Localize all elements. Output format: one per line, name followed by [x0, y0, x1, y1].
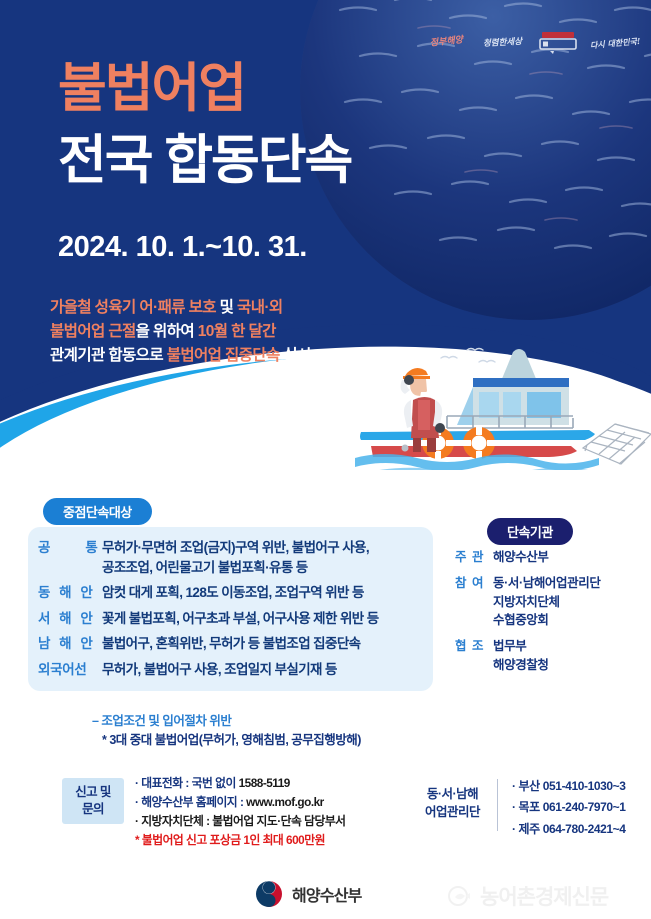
ministry-footer-logo: 해양수산부 — [255, 880, 362, 908]
agency-values-participant: 동·서·남해어업관리단 지방자치단체 수협중앙회 — [493, 574, 600, 630]
emblem-svg — [538, 30, 578, 56]
contact-phone-prefix: · 대표전화 : 국번 없이 — [135, 776, 239, 790]
subtitle-3-d: 실시 — [280, 347, 311, 364]
phone-number-mokpo[interactable]: 061-240-7970~1 — [543, 800, 626, 814]
subtitle-3-b: 관계기관 합동으로 — [50, 347, 167, 364]
targets-table: 공 통 무허가·무면허 조업(금지)구역 위반, 불법어구 사용,공조조업, 어… — [28, 527, 433, 691]
contact-label-box: 신고 및 문의 — [62, 778, 124, 824]
agency-label-cooperation: 협 조 — [455, 637, 493, 656]
target-label-foreign: 외국어선 — [38, 660, 102, 680]
contact-item-phone: · 대표전화 : 국번 없이 1588-5119 — [135, 774, 346, 793]
region-title-line1: 동·서·남해 — [427, 787, 478, 801]
target-label-west: 서 해 안 — [38, 609, 102, 629]
subtitle-1-c: 국내·외 — [237, 299, 283, 316]
gov-logo-text-3: 다시 대한민국! — [589, 37, 640, 50]
target-value-foreign: 무허가, 불법어구 사용, 조업일지 부실기재 등 — [102, 660, 337, 680]
contact-item-website: · 해양수산부 홈페이지 : www.mof.go.kr — [135, 793, 346, 812]
phone-number-busan[interactable]: 051-410-1030~3 — [543, 779, 626, 793]
contact-item-local: · 지방자치단체 : 불법어업 지도·단속 담당부서 — [135, 812, 346, 831]
agency-label-participant: 참 여 — [455, 574, 493, 593]
agencies-badge: 단속기관 — [487, 518, 573, 545]
subtitle-line-1: 가을철 성육기 어·패류 보호 및 국내·외 — [50, 296, 311, 320]
region-office-title: 동·서·남해 어업관리단 — [425, 785, 480, 821]
government-logo-strip: 정부해양 청렴한세상 다시 대한민국! — [424, 28, 639, 58]
phone-city-mokpo: · 목포 — [512, 800, 540, 814]
gov-logo-text-1: 청렴한세상 — [483, 38, 523, 49]
agency-values-host: 해양수산부 — [493, 548, 549, 567]
region-phone-list: · 부산 051-410-1030~3 · 목포 061-240-7970~1 … — [512, 776, 626, 840]
table-row: 외국어선 무허가, 불법어구 사용, 조업일지 부실기재 등 — [38, 660, 423, 680]
contact-label-line1: 신고 및 — [75, 784, 111, 801]
table-row: 서 해 안 꽃게 불법포획, 어구초과 부설, 어구사용 제한 위반 등 — [38, 609, 423, 629]
agency-value: 해양수산부 — [493, 548, 549, 567]
clean-world-logo-icon: 청렴한세상 — [481, 28, 525, 58]
table-row: 남 해 안 불법어구, 혼획위반, 무허가 등 불법조업 집중단속 — [38, 634, 423, 654]
targets-badge: 중점단속대상 — [43, 498, 152, 525]
phone-city-busan: · 부산 — [512, 779, 540, 793]
agency-value: 법무부 — [493, 637, 549, 656]
target-value-west: 꽃게 불법포획, 어구초과 부설, 어구사용 제한 위반 등 — [102, 609, 379, 629]
phone-number-jeju[interactable]: 064-780-2421~4 — [543, 822, 626, 836]
press-name: 농어촌경제신문 — [480, 881, 608, 911]
contact-divider — [497, 779, 498, 831]
phone-city-jeju: · 제주 — [512, 822, 540, 836]
list-item: · 부산 051-410-1030~3 — [512, 776, 626, 797]
contact-label-line2: 문의 — [82, 801, 104, 818]
target-value-east: 암컷 대게 포획, 128도 이동조업, 조업구역 위반 등 — [102, 583, 364, 603]
agency-value: 해양경찰청 — [493, 656, 549, 675]
table-row: 동 해 안 암컷 대게 포획, 128도 이동조업, 조업구역 위반 등 — [38, 583, 423, 603]
list-item: 주 관 해양수산부 — [455, 548, 645, 567]
poster-root: 정부해양 청렴한세상 다시 대한민국! 불법어업 전국 합동단속 2024. 1… — [0, 0, 651, 919]
subtitle-line-2: 불법어업 근절을 위하여 10월 한 달간 — [50, 320, 311, 344]
contact-phone-number[interactable]: 1588-5119 — [239, 776, 290, 790]
subtitle-1-a: 가을철 성육기 어·패류 보호 — [50, 299, 216, 316]
target-value-common: 무허가·무면허 조업(금지)구역 위반, 불법어구 사용,공조조업, 어린물고기… — [102, 538, 369, 577]
agency-value: 지방자치단체 — [493, 593, 600, 612]
fishing-boat-illustration — [355, 340, 651, 470]
list-item: · 제주 064-780-2421~4 — [512, 819, 626, 840]
list-item: 참 여 동·서·남해어업관리단 지방자치단체 수협중앙회 — [455, 574, 645, 630]
target-label-east: 동 해 안 — [38, 583, 102, 603]
agencies-badge-label: 단속기관 — [487, 518, 573, 545]
fish-watermark-icon — [447, 884, 473, 908]
list-item: 협 조 법무부 해양경찰청 — [455, 637, 645, 675]
agency-label-host: 주 관 — [455, 548, 493, 567]
table-row: 공 통 무허가·무면허 조업(금지)구역 위반, 불법어구 사용,공조조업, 어… — [38, 538, 423, 577]
ministry-name: 해양수산부 — [292, 882, 362, 906]
subtitle-2-b: 을 위하여 — [136, 323, 198, 340]
agency-value: 동·서·남해어업관리단 — [493, 574, 600, 593]
agencies-list: 주 관 해양수산부 참 여 동·서·남해어업관리단 지방자치단체 수협중앙회 협… — [455, 548, 645, 682]
life-ring-2 — [463, 427, 495, 459]
agency-values-cooperation: 법무부 해양경찰청 — [493, 637, 549, 675]
subtitle-line-3: 관계기관 합동으로 불법어업 집중단속 실시 — [50, 344, 311, 368]
strong-korea-emblem-icon — [536, 28, 580, 58]
contact-website-prefix: · 해양수산부 홈페이지 : — [135, 795, 246, 809]
subtitle-3-c: 불법어업 집중단속 — [167, 347, 280, 364]
subtitle-1-b: 및 — [216, 299, 237, 316]
contact-info-list: · 대표전화 : 국번 없이 1588-5119 · 해양수산부 홈페이지 : … — [135, 774, 346, 850]
subtitle-2-c: 10월 한 달간 — [198, 323, 276, 340]
target-label-common: 공 통 — [38, 538, 102, 558]
hero-section: 정부해양 청렴한세상 다시 대한민국! 불법어업 전국 합동단속 2024. 1… — [0, 0, 651, 470]
agency-value: 수협중앙회 — [493, 611, 600, 630]
korea-coast-script-logo-icon: 정부해양 — [424, 28, 470, 58]
contact-item-reward: * 불법어업 신고 포상금 1인 최대 600만원 — [135, 831, 346, 850]
target-value-south: 불법어구, 혼획위반, 무허가 등 불법조업 집중단속 — [102, 634, 360, 654]
subtitle-block: 가을철 성육기 어·패류 보호 및 국내·외 불법어업 근절을 위하여 10월 … — [50, 296, 311, 368]
press-watermark: 농어촌경제신문 — [447, 881, 608, 911]
page-title-line1: 불법어업 — [58, 62, 245, 115]
target-label-south: 남 해 안 — [38, 634, 102, 654]
targets-note-2: * 3대 중대 불법어업(무허가, 영해침범, 공무집행방해) — [102, 729, 361, 748]
again-slogan-logo-icon: 다시 대한민국! — [591, 28, 639, 58]
taegeuk-icon — [255, 880, 283, 908]
page-title-line2: 전국 합동단속 — [58, 134, 351, 187]
targets-note-1: – 조업조건 및 입어절차 위반 — [92, 710, 231, 729]
targets-badge-label: 중점단속대상 — [43, 498, 152, 525]
contact-website-url[interactable]: www.mof.go.kr — [246, 795, 324, 809]
boat-svg — [355, 340, 651, 470]
subtitle-2-a: 불법어업 근절 — [50, 323, 136, 340]
gov-logo-text-0: 정부해양 — [430, 37, 464, 50]
campaign-date-range: 2024. 10. 1.~10. 31. — [58, 231, 307, 264]
region-title-line2: 어업관리단 — [425, 805, 480, 819]
list-item: · 목포 061-240-7970~1 — [512, 797, 626, 818]
